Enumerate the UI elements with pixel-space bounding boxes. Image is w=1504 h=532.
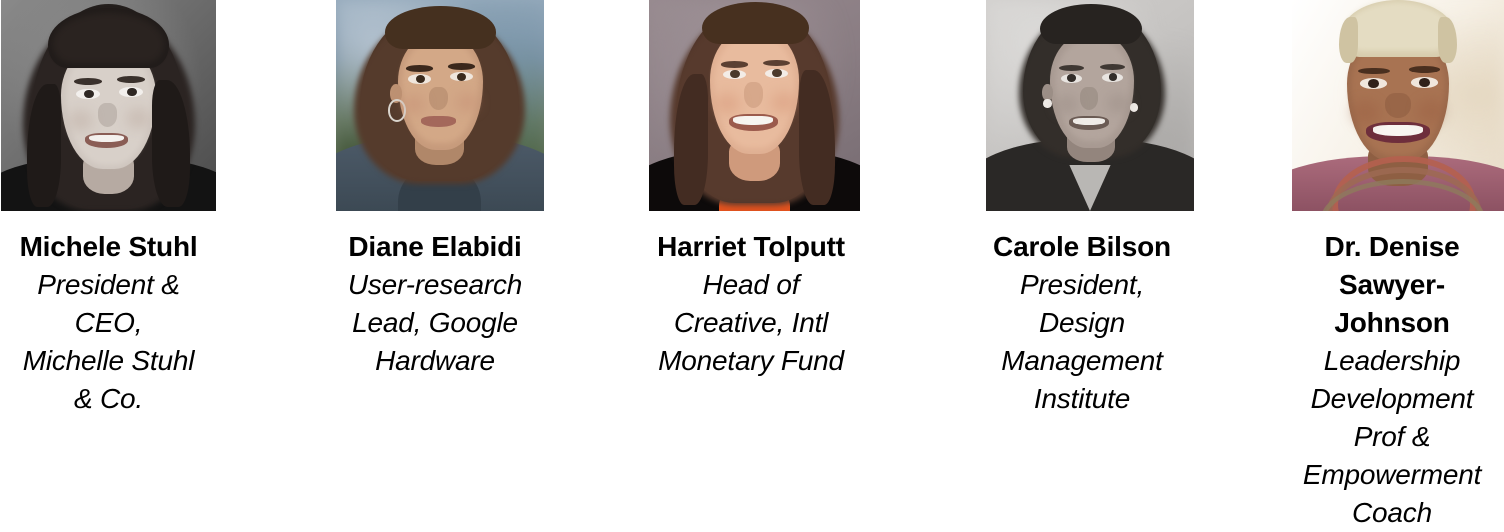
person-card: Diane Elabidi User-research Lead, Google…: [322, 0, 548, 380]
speaker-panel-grid: Michele Stuhl President & CEO, Michelle …: [0, 0, 1504, 508]
person-name: Michele Stuhl: [0, 228, 217, 266]
person-card: Michele Stuhl President & CEO, Michelle …: [0, 0, 217, 418]
person-title-line: Leadership: [1280, 342, 1504, 380]
person-card: Carole Bilson President, Design Manageme…: [962, 0, 1202, 418]
person-title-line: Institute: [962, 380, 1202, 418]
person-title-line: Prof &: [1280, 418, 1504, 456]
person-name: Dr. Denise: [1280, 228, 1504, 266]
person-title-line: Coach: [1280, 494, 1504, 532]
person-name: Harriet Tolputt: [639, 228, 863, 266]
person-photo: [1, 0, 216, 211]
person-title-line: President &: [0, 266, 217, 304]
person-title-line: Head of: [639, 266, 863, 304]
person-card: Harriet Tolputt Head of Creative, Intl M…: [639, 0, 863, 380]
person-title-line: Development: [1280, 380, 1504, 418]
person-caption: Dr. Denise Sawyer- Johnson Leadership De…: [1280, 228, 1504, 532]
person-photo: [649, 0, 860, 211]
person-title-line: Empowerment: [1280, 456, 1504, 494]
person-name: Carole Bilson: [962, 228, 1202, 266]
person-title-line: Hardware: [322, 342, 548, 380]
person-title-line: Management: [962, 342, 1202, 380]
person-photo: [336, 0, 544, 211]
person-caption: Michele Stuhl President & CEO, Michelle …: [0, 228, 217, 418]
person-title-line: President,: [962, 266, 1202, 304]
person-title-line: CEO,: [0, 304, 217, 342]
person-title-line: & Co.: [0, 380, 217, 418]
person-title-line: Creative, Intl: [639, 304, 863, 342]
person-title-line: Michelle Stuhl: [0, 342, 217, 380]
person-caption: Harriet Tolputt Head of Creative, Intl M…: [639, 228, 863, 380]
person-photo: [986, 0, 1194, 211]
person-photo: [1292, 0, 1504, 211]
person-name: Sawyer-: [1280, 266, 1504, 304]
person-caption: Diane Elabidi User-research Lead, Google…: [322, 228, 548, 380]
person-title-line: Monetary Fund: [639, 342, 863, 380]
person-title-line: Design: [962, 304, 1202, 342]
person-caption: Carole Bilson President, Design Manageme…: [962, 228, 1202, 418]
person-title-line: Lead, Google: [322, 304, 548, 342]
person-name: Johnson: [1280, 304, 1504, 342]
person-name: Diane Elabidi: [322, 228, 548, 266]
person-title-line: User-research: [322, 266, 548, 304]
person-card: Dr. Denise Sawyer- Johnson Leadership De…: [1280, 0, 1504, 532]
